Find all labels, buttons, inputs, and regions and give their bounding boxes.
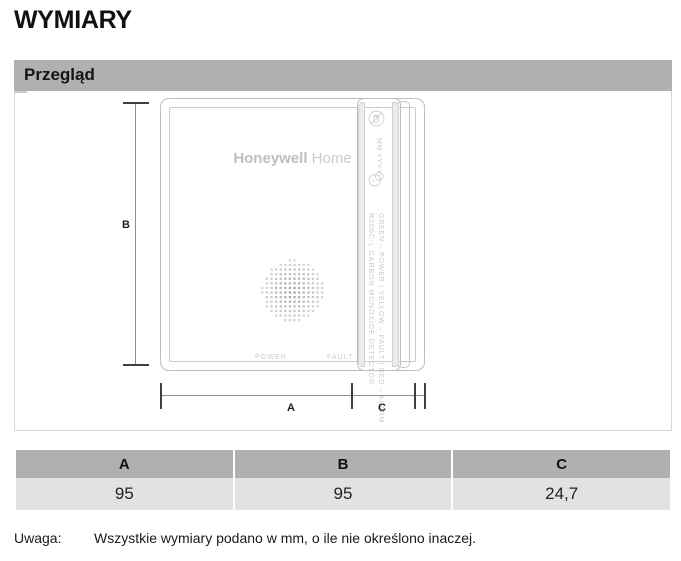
section-header-label: Przegląd bbox=[24, 65, 95, 85]
dimension-tick-c-left bbox=[351, 383, 353, 409]
dimension-drawing-panel: B Honeywell Home POWER FAULT bbox=[14, 91, 672, 431]
dimension-tick-a-right bbox=[424, 383, 426, 409]
table-cell-value: 95 bbox=[235, 478, 452, 510]
speaker-grille-icon bbox=[260, 258, 326, 324]
dimension-tick-c-right bbox=[414, 383, 416, 409]
detector-side-view: MM YYYY R200C-L CARBON MONOXIDE DETECTOR… bbox=[351, 98, 415, 371]
side-date-code-text: MM YYYY bbox=[375, 138, 382, 174]
footnote-label: Uwaga: bbox=[14, 530, 94, 546]
dimension-tick-b-top bbox=[123, 102, 149, 104]
brand-name-honeywell: Honeywell bbox=[233, 150, 307, 167]
section-header-bar: Przegląd bbox=[14, 60, 672, 91]
side-edge-strip-right bbox=[392, 102, 399, 367]
crossed-out-wheelie-bin-icon bbox=[368, 110, 385, 127]
table-header-row: ABC bbox=[16, 450, 670, 478]
table-header-cell-b: B bbox=[235, 450, 452, 478]
extension-line-b-bottom bbox=[15, 92, 27, 93]
footnote-text: Wszystkie wymiary podano w mm, o ile nie… bbox=[94, 530, 476, 546]
led-label-fault: FAULT bbox=[327, 354, 354, 361]
table-cell-value: 24,7 bbox=[453, 478, 670, 510]
page-title: WYMIARY bbox=[14, 6, 132, 35]
footnote: Uwaga:Wszystkie wymiary podano w mm, o i… bbox=[14, 530, 476, 546]
table-header-cell-a: A bbox=[16, 450, 233, 478]
side-edge-strip-left bbox=[358, 102, 365, 367]
dimension-label-b: B bbox=[122, 219, 130, 231]
led-label-power: POWER bbox=[255, 354, 287, 361]
side-led-legend-text: GREEN – POWER | YELLOW – FAULT | RED – A… bbox=[377, 213, 384, 423]
table-header-cell-c: C bbox=[453, 450, 670, 478]
dimensions-table: ABC 959524,7 bbox=[14, 450, 672, 510]
table-row: 959524,7 bbox=[16, 478, 670, 510]
dimension-line-c bbox=[352, 395, 415, 396]
dimension-label-a: A bbox=[287, 402, 295, 414]
dimension-line-b bbox=[135, 103, 136, 366]
dimension-label-c: C bbox=[378, 402, 386, 414]
table-cell-value: 95 bbox=[16, 478, 233, 510]
dimension-tick-b-bottom bbox=[123, 364, 149, 366]
dimension-tick-a-left bbox=[160, 383, 162, 409]
side-model-text: R200C-L CARBON MONOXIDE DETECTOR bbox=[367, 213, 374, 385]
brand-name-home: Home bbox=[312, 150, 352, 167]
table-body: 959524,7 bbox=[16, 478, 670, 510]
